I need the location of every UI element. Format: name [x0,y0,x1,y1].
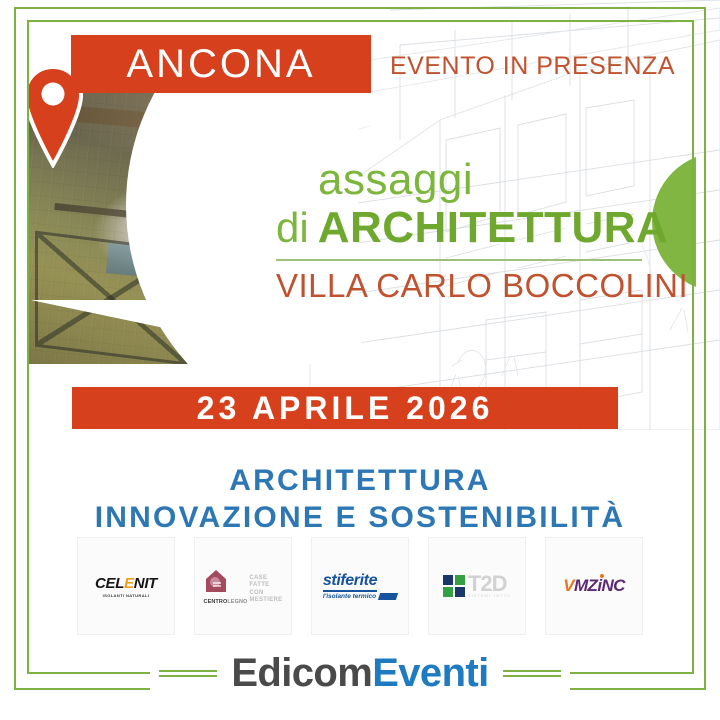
stiferite-name: stiferite [323,573,377,592]
vmzinc-v: V [563,576,574,595]
venue-name: VILLA CARLO BOCCOLINI [276,267,676,305]
brand-logo[interactable]: EdicomEventi [0,653,720,693]
brand-part2: Eventi [372,651,488,695]
t2d-tagline: SISTEMI TETTO [468,594,511,598]
title-block: assaggi di ARCHITETTURA VILLA CARLO BOCC… [276,158,676,305]
sponsor-logo-t2d[interactable]: T2D SISTEMI TETTO [428,537,526,635]
sponsor-logo-stiferite[interactable]: stiferite l'isolante termico [311,537,409,635]
event-date: 23 APRILE 2026 [197,390,494,427]
title-architettura-row: di ARCHITETTURA [276,206,676,250]
title-architettura: ARCHITETTURA [318,206,669,250]
brand-rule-left [159,667,217,680]
stiferite-wordmark: stiferite l'isolante termico [323,572,397,600]
city-name: ANCONA [126,44,315,84]
vmzinc-nc: NC [601,576,624,595]
brand-wordmark: EdicomEventi [231,653,488,693]
t2d-wordmark: T2D SISTEMI TETTO [443,574,511,597]
celenit-part1: CEL [95,575,124,592]
sponsor-logo-centrolegno[interactable]: CENTROLEGNO CASE FATTE CON MESTIERE [194,537,292,635]
claim-line-2: FATTE [249,582,282,590]
date-banner: 23 APRILE 2026 [72,387,618,429]
celenit-wordmark: CELENIT ISOLANTI NATURALI [95,575,157,598]
vmzinc-wordmark: VMZiNC [563,576,625,596]
sponsor-logo-celenit[interactable]: CELENIT ISOLANTI NATURALI [77,537,175,635]
t2d-text: T2D SISTEMI TETTO [468,574,511,597]
centrolegno-wordmark: CENTROLEGNO CASE FATTE CON MESTIERE [204,568,283,605]
event-poster: ANCONA EVENTO IN PRESENZA assaggi di ARC… [0,0,720,720]
sponsor-logo-vmzinc[interactable]: VMZiNC [545,537,643,635]
event-theme: ARCHITETTURA INNOVAZIONE E SOSTENIBILITÀ [30,462,690,536]
event-theme-line1: ARCHITETTURA [30,462,690,499]
city-banner: ANCONA [71,35,371,93]
title-di: di [276,207,309,249]
celenit-tagline: ISOLANTI NATURALI [95,593,157,598]
brand-part1: Edicom [231,651,372,695]
celenit-part2: NIT [134,575,157,592]
claim-line-3: CON [249,590,282,598]
centrolegno-light: LEGNO [227,599,247,605]
stiferite-tagline: l'isolante termico [323,593,376,600]
event-mode-label: EVENTO IN PRESENZA [390,52,675,81]
title-assaggi: assaggi [276,158,676,202]
claim-line-1: CASE [249,575,282,583]
centrolegno-text: CENTROLEGNO [204,599,248,605]
centrolegno-claim: CASE FATTE CON MESTIERE [249,575,282,605]
sponsor-logo-row: CELENIT ISOLANTI NATURALI CENTROLEGNO CA… [77,537,643,635]
celenit-accent: E [124,575,134,592]
centrolegno-bold: CENTRO [204,599,228,605]
claim-line-4: MESTIERE [249,597,282,605]
stiferite-bar-icon [378,593,398,600]
vmzinc-mz: MZ [574,576,597,595]
brand-rule-right [503,667,561,680]
stiferite-tagline-row: l'isolante termico [323,593,397,600]
title-divider [276,259,642,261]
t2d-squares-icon [443,575,465,597]
event-theme-line2: INNOVAZIONE E SOSTENIBILITÀ [30,499,690,536]
house-icon [204,568,228,594]
